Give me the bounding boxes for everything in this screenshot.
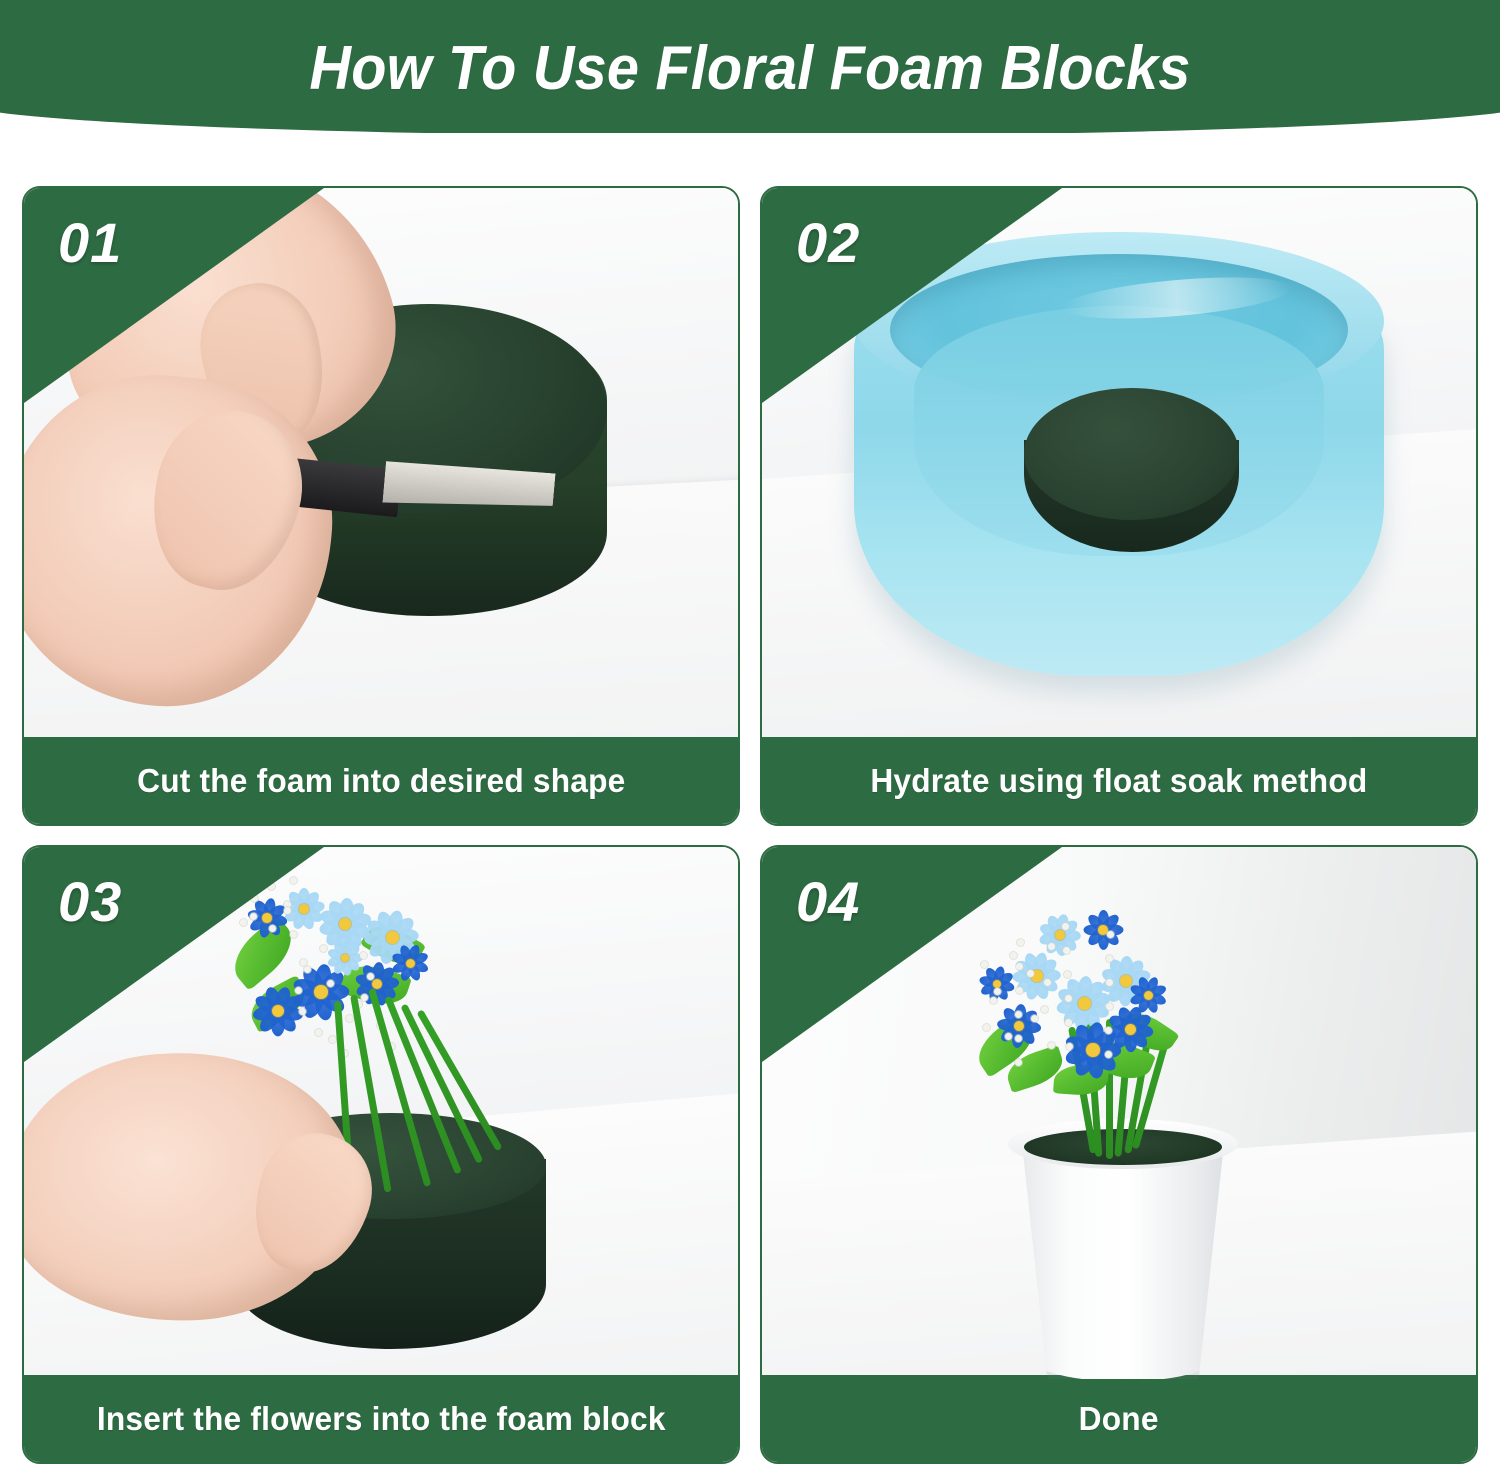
filler-bud	[1106, 979, 1113, 986]
filler-bud	[1044, 979, 1051, 986]
step-number-01: 01	[58, 210, 122, 275]
filler-bud	[1107, 931, 1114, 938]
filler-bud	[299, 1008, 306, 1015]
floral-foam-block-top	[1024, 388, 1239, 520]
flower	[1084, 911, 1122, 949]
flower-center	[1125, 1024, 1136, 1035]
flower-center	[262, 913, 272, 923]
step-caption-text-03: Insert the flowers into the foam block	[97, 1400, 666, 1438]
filler-bud	[1016, 987, 1023, 994]
filler-bud	[1041, 1006, 1048, 1013]
step-card-02: 02 Hydrate using float soak method	[760, 186, 1478, 826]
filler-bud	[240, 919, 247, 926]
filler-bud	[1005, 1033, 1012, 1040]
filler-bud	[320, 945, 327, 952]
flower-center	[314, 985, 328, 999]
flower	[1040, 915, 1080, 955]
filler-bud	[269, 925, 276, 932]
bouquet-flowers	[962, 857, 1322, 1157]
filler-bud	[1048, 1042, 1055, 1049]
flower	[392, 945, 428, 981]
flower-center	[272, 1005, 284, 1017]
flower-center	[406, 959, 415, 968]
filler-bud	[981, 961, 988, 968]
filler-bud	[367, 973, 374, 980]
filler-bud	[1048, 943, 1055, 950]
filler-bud	[1015, 1059, 1022, 1066]
step-number-03: 03	[58, 869, 122, 934]
step-card-01: 01 Cut the foam into desired shape	[22, 186, 740, 826]
filler-bud	[1015, 1035, 1022, 1042]
filler-bud	[327, 980, 334, 987]
step-caption-04: Done	[762, 1375, 1476, 1462]
flower	[328, 941, 362, 975]
filler-bud	[360, 952, 367, 959]
filler-bud	[1105, 1027, 1112, 1034]
filler-bud	[295, 987, 302, 994]
filler-bud	[1065, 995, 1072, 1002]
filler-bud	[1016, 963, 1023, 970]
filler-bud	[1063, 947, 1070, 954]
filler-bud	[1062, 923, 1069, 930]
step-caption-02: Hydrate using float soak method	[762, 737, 1476, 824]
white-pot	[1012, 1133, 1234, 1379]
steps-grid: 01 Cut the foam into desired shape 02	[0, 186, 1500, 1464]
filler-bud	[1106, 1003, 1113, 1010]
filler-bud	[290, 931, 297, 938]
flower	[980, 967, 1014, 1001]
filler-bud	[304, 966, 311, 973]
page-title: How To Use Floral Foam Blocks	[53, 33, 1448, 104]
filler-bud	[290, 877, 297, 884]
filler-bud	[361, 994, 368, 1001]
filler-bud	[994, 988, 1001, 995]
filler-bud	[250, 913, 257, 920]
filler-bud	[990, 997, 997, 1004]
filler-bud	[1027, 970, 1034, 977]
filler-bud	[983, 1024, 990, 1031]
filler-bud	[1106, 955, 1113, 962]
step-photo-01: 01	[24, 188, 738, 741]
step-caption-01: Cut the foam into desired shape	[24, 737, 738, 824]
step-number-02: 02	[796, 210, 860, 275]
filler-bud	[284, 907, 291, 914]
filler-bud	[1015, 1011, 1022, 1018]
flower-center	[1078, 997, 1091, 1010]
step-photo-03: 03	[24, 847, 738, 1379]
filler-bud	[1065, 1019, 1072, 1026]
step-photo-04: 04	[762, 847, 1476, 1379]
step-number-04: 04	[796, 869, 860, 934]
filler-bud	[300, 959, 307, 966]
filler-bud	[315, 1029, 322, 1036]
flower-center	[386, 931, 399, 944]
flower-center	[1086, 1043, 1100, 1057]
filler-bud	[1031, 1015, 1038, 1022]
step-caption-text-04: Done	[1079, 1400, 1159, 1438]
page-header: How To Use Floral Foam Blocks	[0, 0, 1500, 133]
step-caption-text-01: Cut the foam into desired shape	[137, 762, 625, 800]
filler-bud	[1017, 939, 1024, 946]
step-photo-02: 02	[762, 188, 1476, 741]
flower-center	[1144, 991, 1153, 1000]
flower	[1108, 1007, 1152, 1051]
filler-bud	[1105, 1051, 1112, 1058]
filler-bud	[1010, 952, 1017, 959]
filler-bud	[1066, 1043, 1073, 1050]
flower-center	[1055, 930, 1065, 940]
step-caption-03: Insert the flowers into the foam block	[24, 1375, 738, 1462]
flower	[1130, 977, 1166, 1013]
step-card-03: 03 Insert the flowers into the foam bloc…	[22, 845, 740, 1464]
step-caption-text-02: Hydrate using float soak method	[870, 762, 1367, 800]
flower-center	[299, 904, 309, 914]
filler-bud	[1064, 971, 1071, 978]
flower	[254, 987, 302, 1035]
step-card-04: 04 Done	[760, 845, 1478, 1464]
